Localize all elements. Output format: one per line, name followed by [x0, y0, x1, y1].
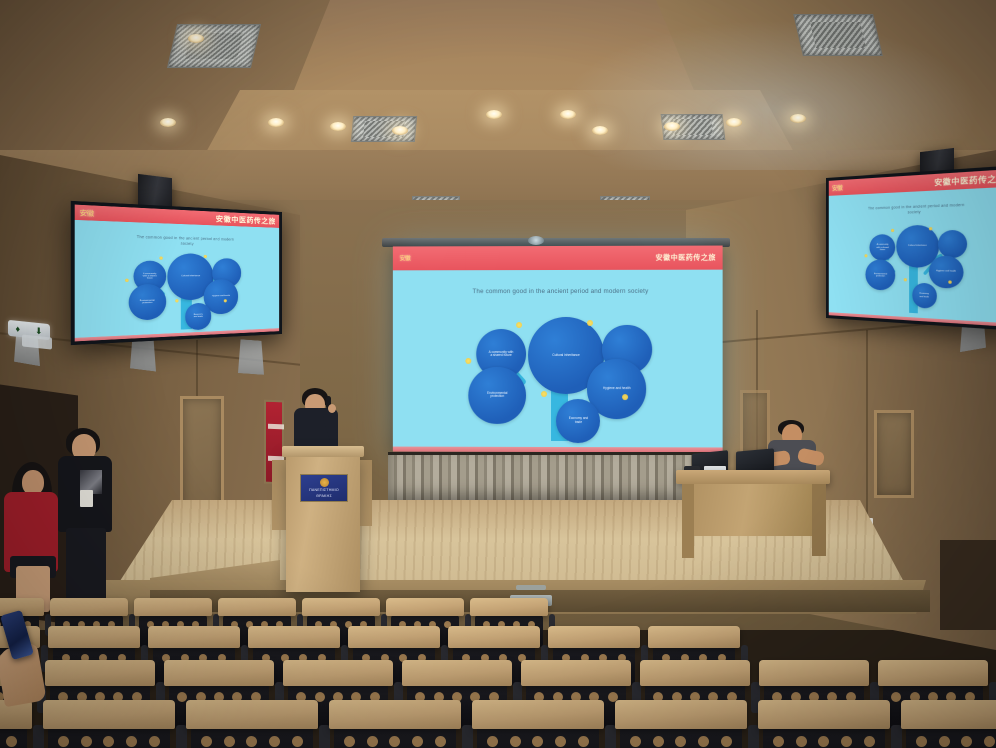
slide-mirror-right: 安徽安徽中医药传之旅The common good in the ancient… [829, 169, 996, 327]
accent-dot-icon [541, 391, 547, 397]
accent-dot-icon [904, 278, 907, 281]
auditorium-seat[interactable] [218, 598, 296, 616]
seat-stud [367, 736, 378, 747]
seat-stud [149, 736, 160, 747]
auditorium-seat[interactable] [640, 660, 750, 686]
seat-armrest [748, 725, 759, 748]
projector-icon [528, 236, 544, 245]
auditorium-seat[interactable] [134, 598, 212, 616]
tech-desk-leg [682, 484, 694, 558]
ceiling-downlight [560, 110, 576, 119]
tree-bubble-label: Environmental protection [136, 299, 159, 304]
tech-desk-top [676, 470, 830, 484]
seat-armrest [605, 725, 616, 748]
ceiling-downlight [188, 34, 204, 43]
auditorium-seat[interactable] [615, 700, 747, 729]
wall-sconce-icon [238, 339, 264, 375]
slide-body: The common good in the ancient period an… [829, 187, 996, 327]
slide-title: The common good in the ancient period an… [130, 234, 240, 248]
ceiling-downlight [330, 122, 346, 131]
seat-stud [269, 736, 280, 747]
auditorium-seat[interactable] [50, 598, 128, 616]
auditorium-seat[interactable] [648, 626, 740, 648]
slide-logo: 安徽 [399, 254, 410, 263]
seat-stud [916, 736, 927, 747]
tree-bubble-label: Cultural inheritance [181, 275, 200, 277]
accent-dot-icon [160, 256, 163, 259]
seat-stud [555, 736, 566, 747]
slide-mirror-left: 安徽安徽中医药传之旅The common good in the ancient… [75, 205, 279, 342]
slide-banner: 安徽安徽中医药传之旅 [393, 246, 723, 271]
seat-stud [891, 692, 901, 702]
seat-stud [224, 736, 235, 747]
accent-dot-icon [622, 394, 628, 400]
hvac-vent-icon [793, 14, 883, 56]
tree-bubble: Environmental protection [469, 367, 526, 424]
auditorium-seat[interactable] [470, 598, 548, 616]
auditorium-seat[interactable] [283, 660, 393, 686]
auditorium-seat[interactable] [48, 626, 140, 648]
tree-bubble-label: Economy and trade [568, 417, 589, 424]
seat-stud [412, 736, 423, 747]
auditorium-seat[interactable] [878, 660, 988, 686]
seat-stud [389, 736, 400, 747]
tree-bubble: A community with a shared future [870, 234, 896, 261]
seat-stud-row [52, 736, 166, 747]
seat-stud [578, 736, 589, 747]
tree-bubble-label: Economy and trade [918, 293, 930, 298]
slide-logo: 安徽 [832, 183, 842, 193]
accent-dot-icon [126, 279, 130, 282]
auditorium-seat[interactable] [386, 598, 464, 616]
seat-stud [984, 736, 995, 747]
seat-armrest [319, 725, 330, 748]
slide-logo: 安徽 [79, 207, 93, 218]
auditorium-seat[interactable] [186, 700, 318, 729]
ceiling-downlight [726, 118, 742, 127]
plaque-line-1: ΠΑΝΕΠΙΣΤΗΜΙΟ [309, 488, 339, 492]
tree-bubble: Economy and trade [185, 303, 212, 330]
accent-dot-icon [587, 320, 593, 326]
seat-stud [58, 736, 69, 747]
floor-socket-plate [516, 585, 546, 590]
seat-stud [435, 736, 446, 747]
tree-bubble-label: Hygiene and health [212, 295, 230, 298]
tree-bubble-label: Hygiene and health [936, 271, 956, 274]
tree-bubble: Economy and trade [556, 399, 600, 443]
running-person-icon: ♦ [15, 324, 20, 333]
auditorium-seat[interactable] [758, 700, 890, 729]
slide-banner-title: 安徽中医药传之旅 [216, 213, 276, 226]
auditorium-seat[interactable] [402, 660, 512, 686]
auditorium-seat[interactable] [43, 700, 175, 729]
auditorium-seat[interactable] [329, 700, 461, 729]
ceiling-downlight [392, 126, 408, 135]
accent-dot-icon [929, 227, 932, 230]
hvac-vent-icon [167, 24, 261, 68]
seat-stud [201, 736, 212, 747]
seat-stud-row [910, 736, 996, 747]
tree-diagram: A community with a shared futureCultural… [864, 224, 969, 316]
auditorium-seat[interactable] [164, 660, 274, 686]
tree-diagram: A community with a shared futureCultural… [126, 253, 244, 332]
auditorium-seat[interactable] [302, 598, 380, 616]
seat-stud-row [767, 736, 881, 747]
slide-title: The common good in the ancient period an… [867, 203, 965, 217]
seat-stud [510, 736, 521, 747]
ceiling-downlight [486, 110, 502, 119]
accent-dot-icon [890, 229, 893, 232]
auditorium-seat[interactable] [521, 660, 631, 686]
auditorium-seat[interactable] [759, 660, 869, 686]
seat-stud [818, 736, 829, 747]
tech-desk-apron [682, 484, 824, 536]
seat-armrest [462, 725, 473, 748]
auditorium-seat[interactable] [148, 626, 240, 648]
seat-stud-row [338, 736, 452, 747]
seat-stud [773, 736, 784, 747]
seat-stud [292, 736, 303, 747]
right-wall-monitor[interactable]: 安徽安徽中医药传之旅The common good in the ancient… [826, 165, 996, 330]
slide-body: The common good in the ancient period an… [393, 269, 723, 452]
accent-dot-icon [203, 255, 206, 258]
tree-bubble: Environmental protection [866, 260, 896, 291]
university-seal-icon [320, 478, 329, 487]
auditorium-seat[interactable] [348, 626, 440, 648]
arrow-down-icon: ⬇ [35, 326, 43, 336]
ceiling-downlight [790, 114, 806, 123]
seat-stud [630, 736, 641, 747]
tree-bubble-label: Cultural inheritance [552, 354, 579, 358]
accent-dot-icon [465, 358, 471, 364]
podium-top-surface [282, 446, 364, 457]
seat-armrest [176, 725, 187, 748]
podium-wing [358, 460, 372, 526]
ceiling-downlight [268, 118, 284, 127]
tree-diagram: A community with a shared futureCultural… [465, 317, 656, 441]
tree-bubble-label: Environmental protection [480, 392, 514, 399]
tech-desk-leg [812, 484, 826, 556]
ceiling-downlight [664, 122, 680, 131]
seat-stud [532, 736, 543, 747]
tree-bubble: Environmental protection [128, 284, 166, 321]
seat-armrest [33, 725, 44, 748]
seat-stud [103, 736, 114, 747]
seat-stud [653, 736, 664, 747]
auditorium-seat[interactable] [45, 660, 155, 686]
auditorium-seat[interactable] [448, 626, 540, 648]
presentation-slide: 安徽安徽中医药传之旅The common good in the ancient… [393, 246, 723, 453]
tree-bubble [938, 230, 967, 258]
seat-stud [81, 736, 92, 747]
podium-plaque: ΠΑΝΕΠΙΣΤΗΜΙΟ ΘΡΑΚΗΣ [300, 474, 348, 502]
lectern-podium [286, 452, 360, 592]
main-projection-screen[interactable]: 安徽安徽中医药传之旅The common good in the ancient… [393, 246, 723, 453]
seat-stud [6, 736, 17, 747]
seat-stud [796, 736, 807, 747]
tree-bubble-label: A community with a shared future [141, 272, 158, 280]
accent-dot-icon [516, 322, 522, 328]
seat-stud [487, 736, 498, 747]
tree-bubble: Economy and trade [912, 283, 937, 308]
accent-dot-icon [864, 254, 867, 257]
slide-body: The common good in the ancient period an… [75, 220, 279, 341]
seat-armrest [891, 725, 902, 748]
seat-stud [698, 736, 709, 747]
wall-dark-base [940, 540, 996, 630]
seat-stud-row [195, 736, 309, 747]
wall-recessed-panel [874, 410, 914, 498]
lanyard-badge [80, 490, 93, 507]
ceiling-downlight [592, 126, 608, 135]
accent-dot-icon [175, 299, 178, 302]
slide-banner-title: 安徽中医药传之旅 [934, 173, 996, 188]
seat-stud [675, 736, 686, 747]
slide-banner-title: 安徽中医药传之旅 [656, 252, 716, 262]
auditorium-seat[interactable] [248, 626, 340, 648]
tree-bubble-label: Cultural inheritance [908, 245, 927, 247]
auditorium-seat[interactable] [548, 626, 640, 648]
seat-stud [864, 736, 875, 747]
auditorium-seat[interactable] [472, 700, 604, 729]
seat-stud [721, 736, 732, 747]
tree-bubble-label: Environmental protection [872, 273, 890, 278]
seat-stud [841, 736, 852, 747]
tree-bubble-label: A community with a shared future [876, 244, 890, 251]
slide-title: The common good in the ancient period an… [471, 288, 649, 297]
left-wall-monitor[interactable]: 安徽安徽中医药传之旅The common good in the ancient… [71, 201, 282, 345]
auditorium-seat[interactable] [901, 700, 996, 729]
seat-stud-row [481, 736, 595, 747]
tree-bubble-label: Economy and trade [192, 314, 205, 319]
seat-stud [961, 736, 972, 747]
seat-stud [126, 736, 137, 747]
seat-stud-row [624, 736, 738, 747]
tree-bubble-label: A community with a shared future [488, 351, 515, 358]
presenter-hand [328, 404, 336, 413]
seat-stud [246, 736, 257, 747]
seat-stud-row [0, 736, 23, 747]
seat-stud [939, 736, 950, 747]
tree-bubble: Hygiene and health [929, 255, 963, 289]
seat-stud [344, 736, 355, 747]
plaque-line-2: ΘΡΑΚΗΣ [316, 494, 332, 498]
auditorium-photo: ♦ ⬇ 安徽安徽中医药传之旅The common good in the anc… [0, 0, 996, 748]
ceiling-downlight [160, 118, 176, 127]
tree-bubble-label: Hygiene and health [603, 387, 631, 391]
